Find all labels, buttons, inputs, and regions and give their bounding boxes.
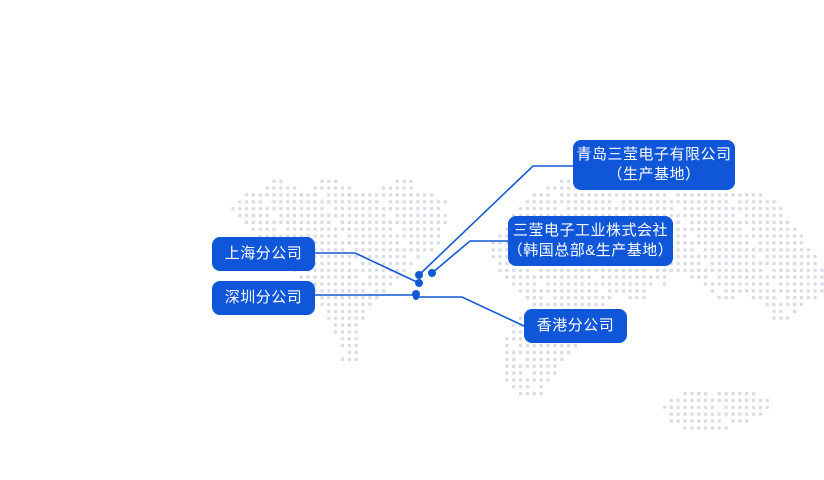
- map-marker-qingdao[interactable]: [415, 271, 423, 279]
- label-korea-line1: 三莹电子工业株式会社: [513, 221, 668, 241]
- connector-shanghai: [315, 253, 419, 283]
- label-qingdao[interactable]: 青岛三莹电子有限公司 （生产基地）: [573, 140, 735, 190]
- label-qingdao-line2: （生产基地）: [607, 165, 700, 185]
- label-korea-hq[interactable]: 三莹电子工业株式会社 （韩国总部&生产基地）: [508, 216, 673, 266]
- label-hongkong[interactable]: 香港分公司: [524, 309, 627, 343]
- connector-korea: [432, 241, 508, 273]
- label-korea-line2: （韩国总部&生产基地）: [508, 241, 674, 261]
- map-marker-korea[interactable]: [428, 269, 436, 277]
- world-map-infographic: 青岛三莹电子有限公司 （生产基地） 三莹电子工业株式会社 （韩国总部&生产基地）…: [0, 0, 824, 480]
- label-shenzhen[interactable]: 深圳分公司: [212, 281, 315, 315]
- label-qingdao-line1: 青岛三莹电子有限公司: [576, 145, 731, 165]
- label-hongkong-text: 香港分公司: [537, 316, 615, 336]
- label-shanghai-text: 上海分公司: [225, 244, 303, 264]
- map-marker-shanghai[interactable]: [415, 279, 423, 287]
- map-marker-hongkong[interactable]: [413, 294, 419, 300]
- label-shanghai[interactable]: 上海分公司: [212, 237, 315, 271]
- connector-hongkong: [416, 297, 524, 326]
- label-shenzhen-text: 深圳分公司: [225, 288, 303, 308]
- connector-lines: [0, 0, 824, 480]
